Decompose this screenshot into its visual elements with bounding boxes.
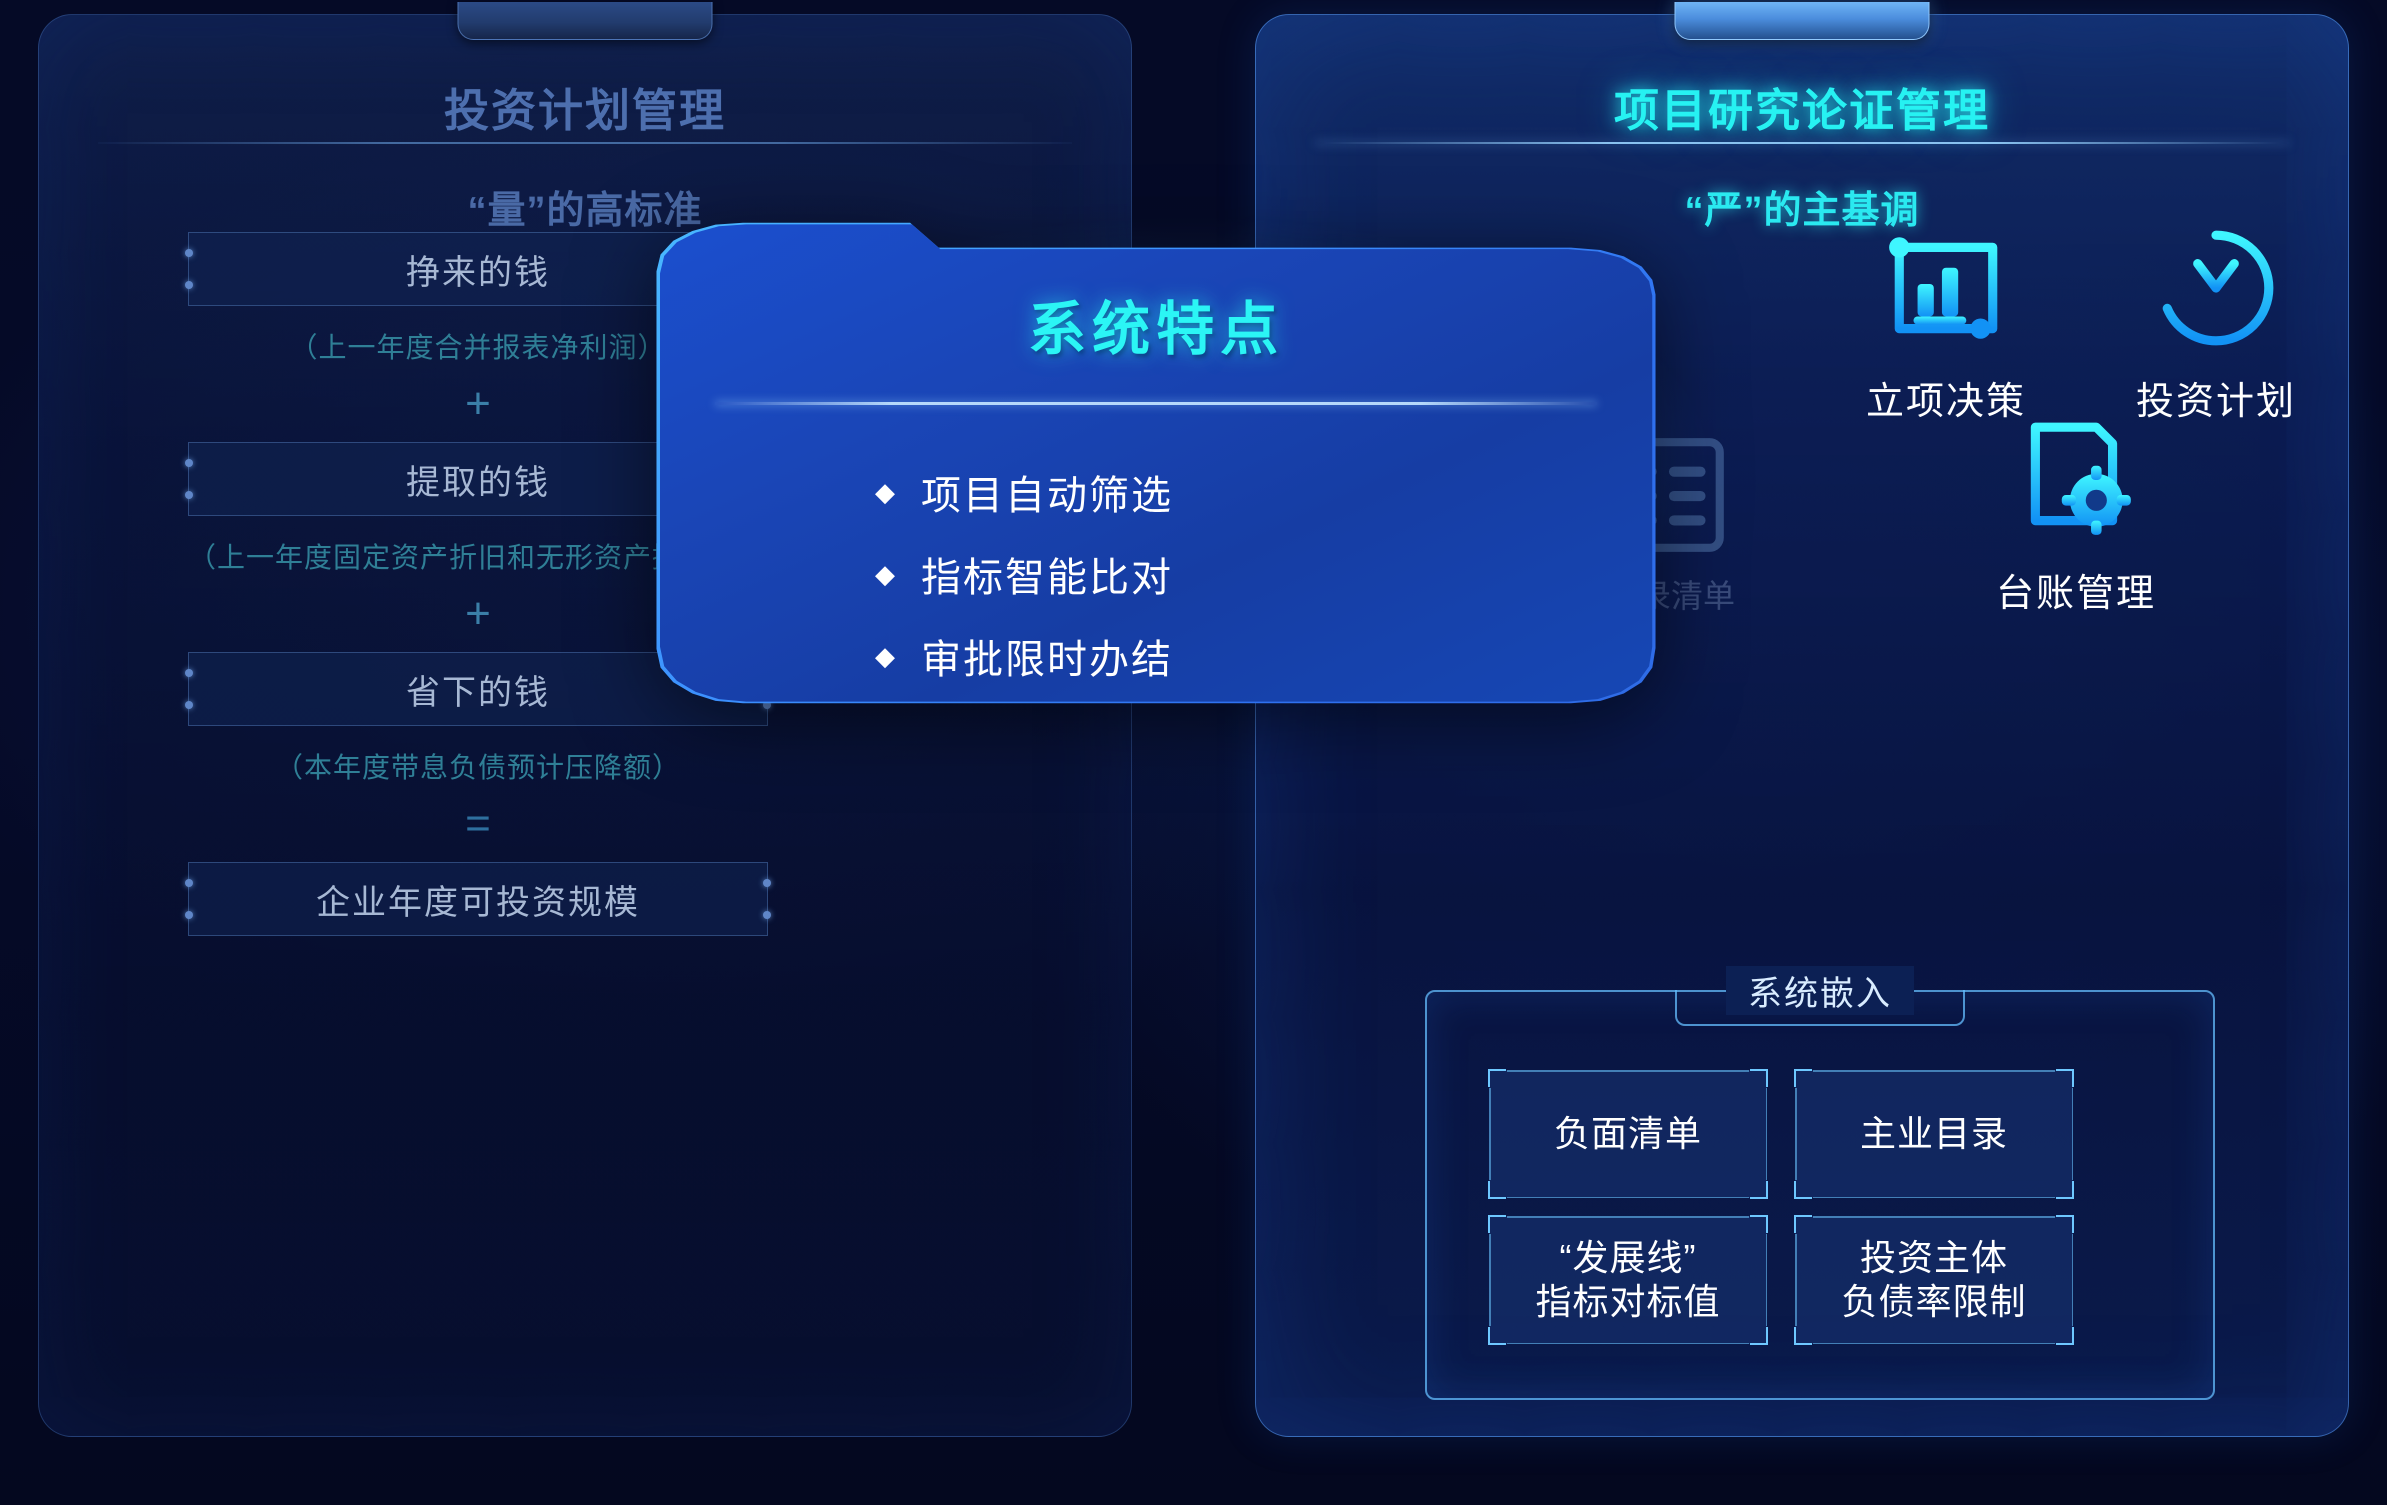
cell-edge [1813,1343,2055,1345]
corner-marker [1488,1215,1506,1233]
cell-edge [1795,1088,1797,1180]
corner-marker [1794,1327,1812,1345]
corner-dot [185,701,193,709]
corner-dot [763,879,771,887]
cell-edge [2072,1088,2074,1180]
slide-canvas: 投资计划管理 “量”的高标准 挣来的钱 （上一年度合并报表净利润） + 提取的钱… [0,0,2387,1505]
left-panel-divider [98,142,1072,144]
icon-cell-ledger-management[interactable]: 台账管理 [1946,415,2206,617]
bar-chart-decision-icon [1881,223,2011,353]
formula-box-label: 挣来的钱 [406,245,550,294]
embed-cell-main-business-catalog[interactable]: 主业目录 [1795,1070,2073,1198]
cell-edge [1766,1234,1768,1326]
folder-card-feature-list: ◆ 项目自动筛选 ◆ 指标智能比对 ◆ 审批限时办结 [660,463,1652,685]
panel-speaker-notch [458,2,713,40]
cell-edge [1813,1216,2055,1218]
yen-circle-icon [2151,223,2281,353]
list-item: ◆ 指标智能比对 [875,545,1652,603]
cell-edge [1507,1197,1749,1199]
corner-dot [185,249,193,257]
cell-edge [1766,1088,1768,1180]
card-content: 系统特点 ◆ 项目自动筛选 ◆ 指标智能比对 ◆ 审批限时办结 [660,220,1652,705]
corner-dot [185,669,193,677]
system-features-folder-card: 系统特点 ◆ 项目自动筛选 ◆ 指标智能比对 ◆ 审批限时办结 [660,220,1710,705]
corner-dot [185,879,193,887]
corner-dot [185,459,193,467]
embed-grid: 负面清单 主业目录 [1489,1070,2073,1344]
formula-operator-equals: = [188,802,768,846]
list-item: ◆ 审批限时办结 [875,627,1652,685]
folder-card-title: 系统特点 [660,282,1652,366]
list-item-label: 审批限时办结 [921,627,1173,685]
folder-card-divider [715,402,1597,405]
cell-edge [1507,1343,1749,1345]
corner-marker [1488,1181,1506,1199]
corner-marker [2056,1069,2074,1087]
formula-box-label: 省下的钱 [406,665,550,714]
corner-dot [763,911,771,919]
list-item-label: 指标智能比对 [921,545,1173,603]
embed-cell-negative-list[interactable]: 负面清单 [1489,1070,1767,1198]
corner-marker [1750,1069,1768,1087]
cell-edge [1489,1234,1491,1326]
embed-cell-label: 投资主体 负债率限制 [1841,1236,2026,1324]
document-gear-icon [2011,415,2141,545]
left-panel-title: 投资计划管理 [38,74,1132,139]
right-panel-title: 项目研究论证管理 [1255,74,2349,139]
formula-box-result: 企业年度可投资规模 [188,862,768,936]
list-item-label: 项目自动筛选 [921,463,1173,521]
cell-edge [1489,1088,1491,1180]
corner-marker [1750,1215,1768,1233]
corner-dot [185,281,193,289]
cell-edge [1813,1197,2055,1199]
embed-cell-investor-debt-ratio-limit[interactable]: 投资主体 负债率限制 [1795,1216,2073,1344]
corner-marker [2056,1215,2074,1233]
icon-cell-project-decision[interactable]: 立项决策 [1816,223,2076,425]
embed-cell-label: “发展线” 指标对标值 [1535,1236,1720,1324]
icon-label: 台账管理 [1946,562,2206,617]
diamond-bullet-icon: ◆ [875,561,897,587]
corner-marker [1750,1327,1768,1345]
cell-edge [1507,1216,1749,1218]
formula-box-label: 提取的钱 [406,455,550,504]
corner-marker [1488,1327,1506,1345]
embed-cell-development-line-benchmark[interactable]: “发展线” 指标对标值 [1489,1216,1767,1344]
embed-cell-label: 负面清单 [1554,1112,1702,1156]
embed-legend-label: 系统嵌入 [1726,966,1914,1015]
system-embed-box: 系统嵌入 负面清单 主业 [1425,990,2215,1400]
corner-dot [185,491,193,499]
formula-note-saved: （本年度带息负债预计压降额） [188,746,768,786]
diamond-bullet-icon: ◆ [875,479,897,505]
cell-edge [1795,1234,1797,1326]
formula-box-label: 企业年度可投资规模 [316,875,640,924]
corner-marker [1794,1069,1812,1087]
cell-edge [2072,1234,2074,1326]
corner-marker [1750,1181,1768,1199]
diamond-bullet-icon: ◆ [875,643,897,669]
corner-marker [1794,1215,1812,1233]
embed-cell-label: 主业目录 [1860,1112,2008,1156]
panel-speaker-notch [1675,2,1930,40]
corner-marker [1794,1181,1812,1199]
corner-marker [1488,1069,1506,1087]
list-item: ◆ 项目自动筛选 [875,463,1652,521]
corner-dot [185,911,193,919]
cell-edge [1507,1070,1749,1072]
corner-marker [2056,1181,2074,1199]
corner-marker [2056,1327,2074,1345]
icon-cell-investment-plan[interactable]: 投资计划 [2086,223,2346,425]
cell-edge [1813,1070,2055,1072]
right-panel-divider [1315,142,2289,144]
